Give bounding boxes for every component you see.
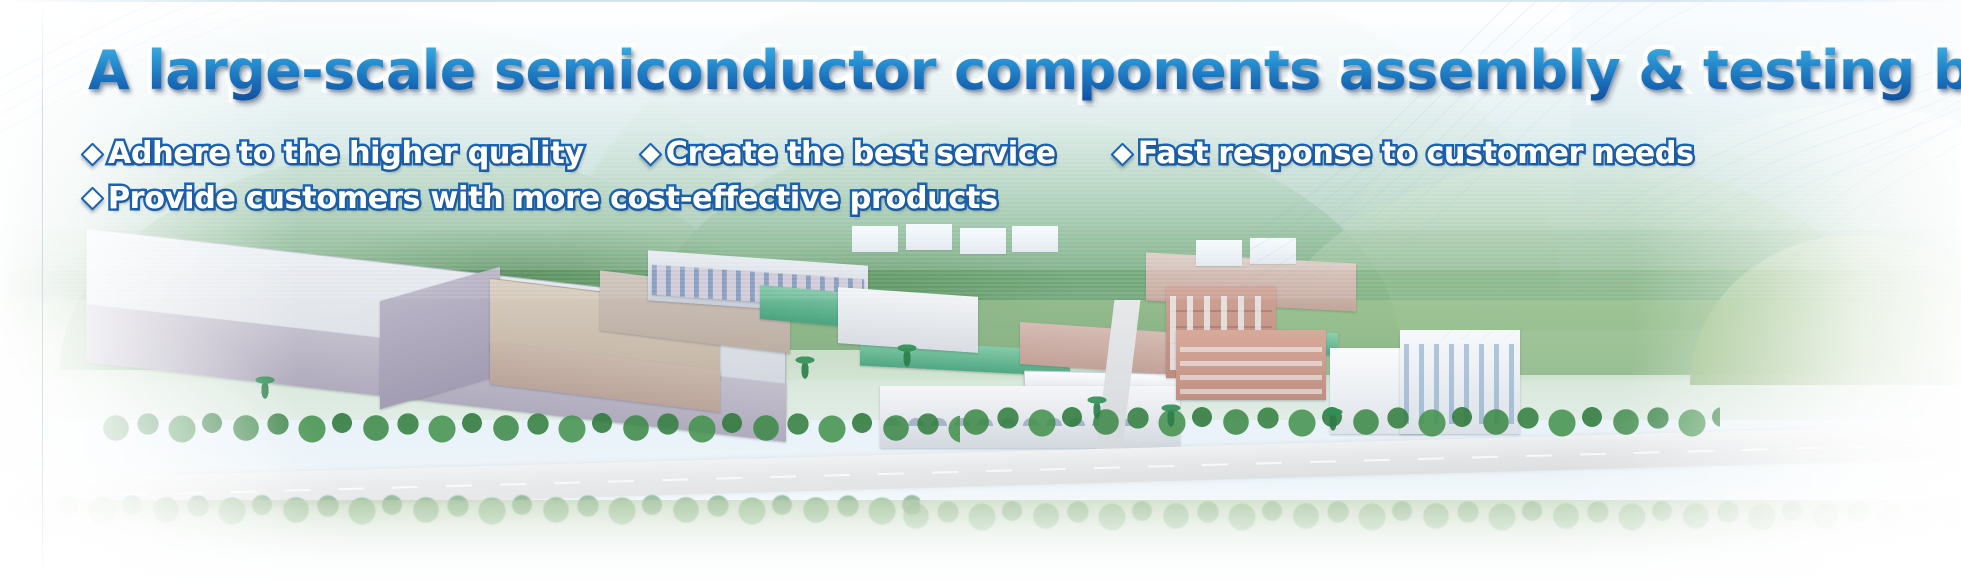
selling-point-label: Provide customers with more cost-effecti… (108, 181, 998, 216)
selling-point-item: Fast response to customer needs Fast res… (1114, 134, 1694, 175)
left-frame-line (42, 0, 43, 581)
selling-point-item: Adhere to the higher quality Adhere to t… (84, 134, 584, 175)
selling-points-row-1: Adhere to the higher quality Adhere to t… (84, 134, 1694, 175)
selling-points-row-2: Provide customers with more cost-effecti… (84, 179, 1694, 220)
palm-tree (1320, 404, 1346, 434)
banner-headline: A large-scale semiconductor components a… (88, 44, 1961, 98)
selling-point-label: Adhere to the higher quality (108, 136, 584, 171)
selling-points-list: Adhere to the higher quality Adhere to t… (84, 134, 1694, 219)
selling-point-label: Fast response to customer needs (1138, 136, 1694, 171)
selling-point-item: Provide customers with more cost-effecti… (84, 179, 998, 220)
dormitory-balconies (1180, 338, 1322, 396)
diamond-icon (80, 187, 104, 211)
fade-corner-bottom-left (0, 281, 360, 581)
top-frame-line (0, 0, 1961, 2)
diamond-icon (80, 142, 104, 166)
palm-tree (1084, 392, 1110, 422)
selling-point-label: Create the best service (666, 136, 1056, 171)
headline-text: A large-scale semiconductor components a… (88, 39, 1961, 102)
selling-point-text-wrap: Create the best service Create the best … (666, 134, 1056, 175)
selling-point-item: Create the best service Create the best … (642, 134, 1056, 175)
diamond-icon (638, 142, 662, 166)
fade-corner-bottom-right (1541, 261, 1961, 581)
promo-banner: A large-scale semiconductor components a… (0, 0, 1961, 581)
palm-tree (894, 340, 920, 370)
selling-point-text-wrap: Fast response to customer needs Fast res… (1138, 134, 1694, 175)
selling-point-text-wrap: Provide customers with more cost-effecti… (108, 179, 998, 220)
selling-point-text-wrap: Adhere to the higher quality Adhere to t… (108, 134, 584, 175)
palm-tree (1158, 400, 1184, 430)
diamond-icon (1110, 142, 1134, 166)
palm-tree (792, 352, 818, 382)
